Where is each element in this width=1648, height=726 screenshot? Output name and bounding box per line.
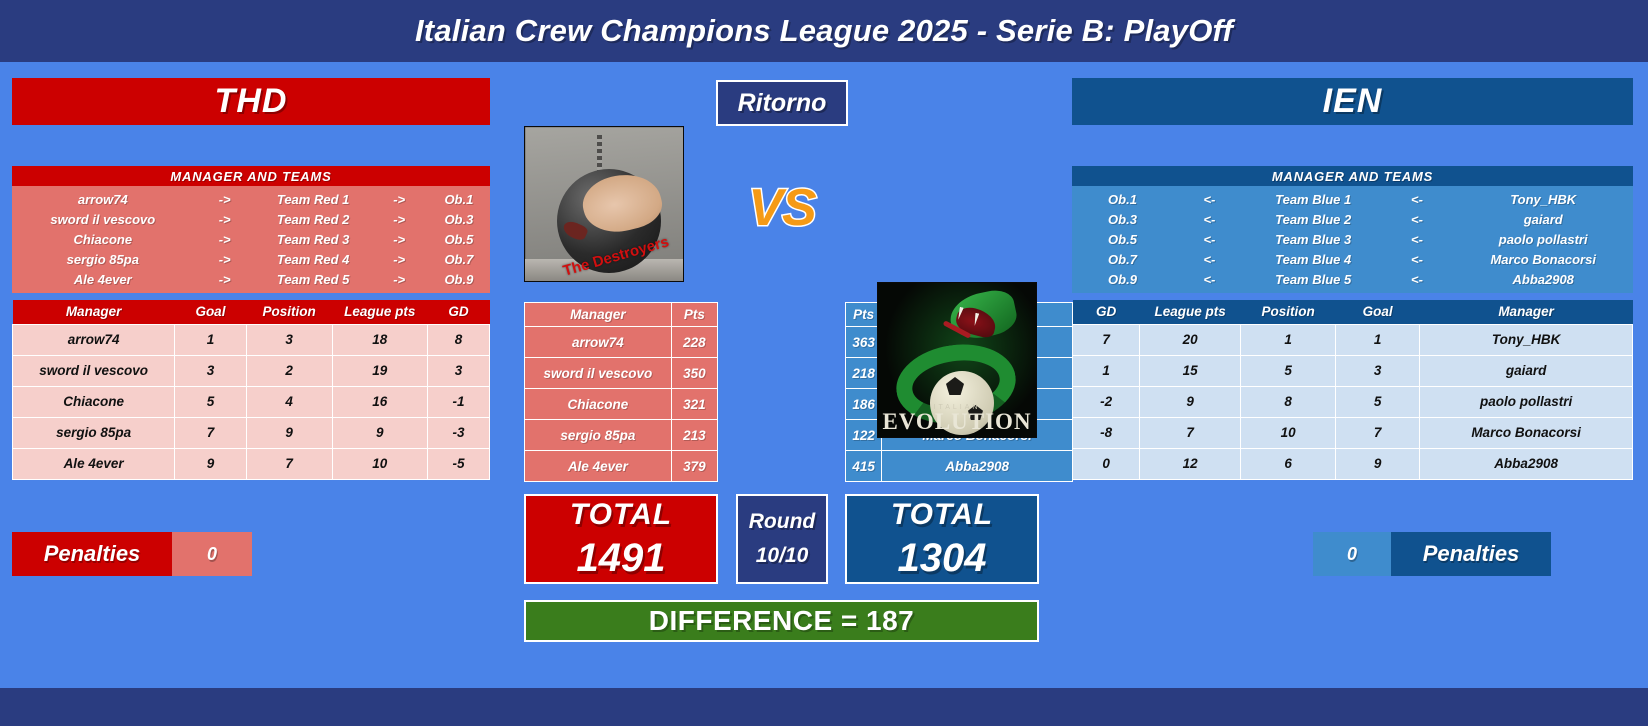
- table-cell: 228: [671, 327, 717, 358]
- table-cell: 12: [1140, 448, 1241, 479]
- table-cell: Tony_HBK: [1420, 324, 1633, 355]
- table-cell: 16: [332, 386, 427, 417]
- table-cell: 415: [846, 451, 882, 482]
- table-cell: 0: [1073, 448, 1140, 479]
- right-penalties: 0 Penalties: [1313, 532, 1551, 576]
- table-cell: Ale 4ever: [13, 448, 175, 479]
- table-row: sword il vescovo350: [525, 358, 718, 389]
- manager-teams-cell: ->: [194, 252, 256, 267]
- manager-teams-cell: Ob.1: [428, 192, 490, 207]
- table-cell: 1: [1240, 324, 1335, 355]
- manager-teams-row: Ob.5<-Team Blue 3<-paolo pollastri: [1072, 229, 1633, 249]
- table-cell: 7: [246, 448, 332, 479]
- manager-teams-cell: <-: [1173, 252, 1246, 267]
- right-manager-teams-block: MANAGER AND TEAMS Ob.1<-Team Blue 1<-Ton…: [1072, 166, 1633, 293]
- table-cell: 379: [671, 451, 717, 482]
- left-team-banner: THD: [12, 78, 490, 125]
- table-cell: 9: [332, 417, 427, 448]
- manager-teams-cell: ->: [194, 232, 256, 247]
- table-cell: 18: [332, 324, 427, 355]
- manager-teams-cell: Ob.9: [1072, 272, 1173, 287]
- manager-teams-cell: Ob.9: [428, 272, 490, 287]
- round-label: Round: [749, 510, 815, 534]
- table-cell: 8: [1240, 386, 1335, 417]
- manager-teams-cell: Ob.7: [428, 252, 490, 267]
- difference-bar: DIFFERENCE = 187: [524, 600, 1039, 642]
- column-header: Position: [1240, 300, 1335, 324]
- column-header: Position: [246, 300, 332, 324]
- table-row: Ale 4ever379: [525, 451, 718, 482]
- manager-teams-row: arrow74->Team Red 1->Ob.1: [12, 189, 490, 209]
- manager-teams-cell: sergio 85pa: [12, 252, 194, 267]
- manager-teams-cell: Team Blue 1: [1246, 192, 1381, 207]
- manager-teams-cell: Ale 4ever: [12, 272, 194, 287]
- manager-teams-cell: Team Blue 4: [1246, 252, 1381, 267]
- column-header: GD: [427, 300, 489, 324]
- manager-teams-cell: ->: [370, 252, 427, 267]
- manager-teams-row: Ob.7<-Team Blue 4<-Marco Bonacorsi: [1072, 249, 1633, 269]
- table-cell: sword il vescovo: [13, 355, 175, 386]
- left-stats-table-wrap: ManagerGoalPositionLeague ptsGDarrow7413…: [12, 300, 490, 480]
- left-stats-table: ManagerGoalPositionLeague ptsGDarrow7413…: [12, 300, 490, 480]
- table-cell: 7: [1140, 417, 1241, 448]
- right-manager-teams-header: MANAGER AND TEAMS: [1072, 166, 1633, 186]
- table-cell: 3: [246, 324, 332, 355]
- table-header-row: ManagerPts: [525, 303, 718, 327]
- left-pts-table-wrap: ManagerPtsarrow74228sword il vescovo350C…: [524, 302, 718, 482]
- manager-teams-cell: Team Red 4: [256, 252, 371, 267]
- left-manager-teams-header: MANAGER AND TEAMS: [12, 166, 490, 186]
- manager-teams-cell: Ob.5: [428, 232, 490, 247]
- table-cell: Abba2908: [882, 451, 1073, 482]
- table-row: -87107Marco Bonacorsi: [1073, 417, 1633, 448]
- right-penalties-label: Penalties: [1391, 532, 1551, 576]
- column-header: League pts: [1140, 300, 1241, 324]
- vs-label: VS: [716, 178, 848, 238]
- right-team-banner: IEN: [1072, 78, 1633, 125]
- manager-teams-cell: <-: [1381, 252, 1454, 267]
- table-header-row: GDLeague ptsPositionGoalManager: [1073, 300, 1633, 324]
- manager-teams-cell: Team Red 2: [256, 212, 371, 227]
- right-total-value: 1304: [898, 536, 987, 581]
- table-cell: 9: [175, 448, 247, 479]
- left-total-box: TOTAL 1491: [524, 494, 718, 584]
- table-cell: Marco Bonacorsi: [1420, 417, 1633, 448]
- table-cell: 7: [1073, 324, 1140, 355]
- round-box: Round 10/10: [736, 494, 828, 584]
- manager-teams-cell: <-: [1381, 232, 1454, 247]
- manager-teams-cell: <-: [1173, 232, 1246, 247]
- manager-teams-row: Ob.3<-Team Blue 2<-gaiard: [1072, 209, 1633, 229]
- table-cell: 3: [427, 355, 489, 386]
- right-total-box: TOTAL 1304: [845, 494, 1039, 584]
- manager-teams-cell: Team Blue 2: [1246, 212, 1381, 227]
- table-cell: 20: [1140, 324, 1241, 355]
- manager-teams-cell: ->: [370, 272, 427, 287]
- column-header: GD: [1073, 300, 1140, 324]
- manager-teams-cell: Ob.3: [428, 212, 490, 227]
- table-row: sergio 85pa799-3: [13, 417, 490, 448]
- table-row: Chiacone5416-1: [13, 386, 490, 417]
- column-header: Goal: [1336, 300, 1420, 324]
- column-header: Goal: [175, 300, 247, 324]
- manager-teams-row: Ale 4ever->Team Red 5->Ob.9: [12, 269, 490, 289]
- column-header: Pts: [671, 303, 717, 327]
- right-team-logo: ITALIAN EVOLUTION: [877, 282, 1037, 438]
- page-title: Italian Crew Champions League 2025 - Ser…: [0, 0, 1648, 62]
- right-manager-teams-body: Ob.1<-Team Blue 1<-Tony_HBKOb.3<-Team Bl…: [1072, 186, 1633, 293]
- manager-teams-cell: Abba2908: [1453, 272, 1633, 287]
- left-team-logo: The Destroyers: [524, 126, 684, 282]
- manager-teams-cell: <-: [1173, 212, 1246, 227]
- table-row: 01269Abba2908: [1073, 448, 1633, 479]
- column-header: League pts: [332, 300, 427, 324]
- table-row: sword il vescovo32193: [13, 355, 490, 386]
- table-cell: 7: [175, 417, 247, 448]
- manager-teams-row: Ob.9<-Team Blue 5<-Abba2908: [1072, 269, 1633, 289]
- table-cell: -2: [1073, 386, 1140, 417]
- manager-teams-cell: Ob.7: [1072, 252, 1173, 267]
- manager-teams-cell: ->: [194, 212, 256, 227]
- manager-teams-cell: ->: [194, 192, 256, 207]
- left-penalties-label: Penalties: [12, 532, 172, 576]
- table-row: 72011Tony_HBK: [1073, 324, 1633, 355]
- table-row: Ale 4ever9710-5: [13, 448, 490, 479]
- table-cell: 213: [671, 420, 717, 451]
- manager-teams-cell: <-: [1173, 192, 1246, 207]
- manager-teams-cell: Ob.1: [1072, 192, 1173, 207]
- table-cell: Chiacone: [525, 389, 672, 420]
- manager-teams-cell: Chiacone: [12, 232, 194, 247]
- table-cell: 321: [671, 389, 717, 420]
- right-stats-table: GDLeague ptsPositionGoalManager72011Tony…: [1072, 300, 1633, 480]
- manager-teams-cell: Team Red 5: [256, 272, 371, 287]
- manager-teams-cell: <-: [1173, 272, 1246, 287]
- table-header-row: ManagerGoalPositionLeague ptsGD: [13, 300, 490, 324]
- manager-teams-cell: ->: [194, 272, 256, 287]
- bottom-band: [0, 688, 1648, 726]
- manager-teams-row: sword il vescovo->Team Red 2->Ob.3: [12, 209, 490, 229]
- table-cell: 9: [1140, 386, 1241, 417]
- table-row: arrow7413188: [13, 324, 490, 355]
- left-total-label: TOTAL: [570, 498, 672, 532]
- table-cell: Ale 4ever: [525, 451, 672, 482]
- table-cell: 19: [332, 355, 427, 386]
- manager-teams-cell: Team Blue 3: [1246, 232, 1381, 247]
- manager-teams-cell: paolo pollastri: [1453, 232, 1633, 247]
- table-cell: 1: [1073, 355, 1140, 386]
- table-cell: sergio 85pa: [13, 417, 175, 448]
- manager-teams-cell: ->: [370, 212, 427, 227]
- right-total-label: TOTAL: [891, 498, 993, 532]
- manager-teams-row: Ob.1<-Team Blue 1<-Tony_HBK: [1072, 189, 1633, 209]
- table-cell: arrow74: [525, 327, 672, 358]
- column-header: Manager: [525, 303, 672, 327]
- table-cell: 5: [1336, 386, 1420, 417]
- manager-teams-row: Chiacone->Team Red 3->Ob.5: [12, 229, 490, 249]
- manager-teams-cell: Marco Bonacorsi: [1453, 252, 1633, 267]
- manager-teams-row: sergio 85pa->Team Red 4->Ob.7: [12, 249, 490, 269]
- table-cell: 9: [246, 417, 332, 448]
- manager-teams-cell: Ob.3: [1072, 212, 1173, 227]
- table-row: arrow74228: [525, 327, 718, 358]
- left-pts-table: ManagerPtsarrow74228sword il vescovo350C…: [524, 302, 718, 482]
- table-row: -2985paolo pollastri: [1073, 386, 1633, 417]
- table-row: 11553gaiard: [1073, 355, 1633, 386]
- left-manager-teams-body: arrow74->Team Red 1->Ob.1sword il vescov…: [12, 186, 490, 293]
- table-cell: -3: [427, 417, 489, 448]
- table-cell: 1: [1336, 324, 1420, 355]
- table-cell: -8: [1073, 417, 1140, 448]
- manager-teams-cell: Ob.5: [1072, 232, 1173, 247]
- table-cell: 5: [175, 386, 247, 417]
- manager-teams-cell: Team Red 3: [256, 232, 371, 247]
- leg-label: Ritorno: [738, 89, 827, 118]
- table-cell: Chiacone: [13, 386, 175, 417]
- table-cell: 3: [175, 355, 247, 386]
- leg-chip: Ritorno: [716, 80, 848, 126]
- left-penalties-value: 0: [172, 532, 252, 576]
- manager-teams-cell: sword il vescovo: [12, 212, 194, 227]
- table-cell: 7: [1336, 417, 1420, 448]
- manager-teams-cell: Tony_HBK: [1453, 192, 1633, 207]
- table-cell: 15: [1140, 355, 1241, 386]
- table-cell: 5: [1240, 355, 1335, 386]
- table-cell: Abba2908: [1420, 448, 1633, 479]
- table-row: Chiacone321: [525, 389, 718, 420]
- table-cell: sword il vescovo: [525, 358, 672, 389]
- manager-teams-cell: <-: [1381, 272, 1454, 287]
- right-logo-watermark: EVOLUTION: [878, 409, 1036, 435]
- table-cell: 8: [427, 324, 489, 355]
- table-cell: 3: [1336, 355, 1420, 386]
- manager-teams-cell: ->: [370, 232, 427, 247]
- table-cell: 10: [332, 448, 427, 479]
- table-row: 415Abba2908: [846, 451, 1073, 482]
- manager-teams-cell: Team Red 1: [256, 192, 371, 207]
- left-total-value: 1491: [577, 536, 666, 581]
- table-cell: -1: [427, 386, 489, 417]
- right-stats-table-wrap: GDLeague ptsPositionGoalManager72011Tony…: [1072, 300, 1633, 480]
- table-cell: 4: [246, 386, 332, 417]
- table-cell: 6: [1240, 448, 1335, 479]
- column-header: Manager: [13, 300, 175, 324]
- column-header: Manager: [1420, 300, 1633, 324]
- manager-teams-cell: arrow74: [12, 192, 194, 207]
- table-cell: 350: [671, 358, 717, 389]
- table-cell: 2: [246, 355, 332, 386]
- right-penalties-value: 0: [1313, 532, 1391, 576]
- manager-teams-cell: <-: [1381, 212, 1454, 227]
- table-cell: 1: [175, 324, 247, 355]
- table-row: sergio 85pa213: [525, 420, 718, 451]
- table-cell: gaiard: [1420, 355, 1633, 386]
- manager-teams-cell: <-: [1381, 192, 1454, 207]
- manager-teams-cell: gaiard: [1453, 212, 1633, 227]
- manager-teams-cell: Team Blue 5: [1246, 272, 1381, 287]
- manager-teams-cell: ->: [370, 192, 427, 207]
- table-cell: arrow74: [13, 324, 175, 355]
- left-manager-teams-block: MANAGER AND TEAMS arrow74->Team Red 1->O…: [12, 166, 490, 293]
- table-cell: 9: [1336, 448, 1420, 479]
- round-value: 10/10: [756, 544, 809, 568]
- table-cell: -5: [427, 448, 489, 479]
- table-cell: 10: [1240, 417, 1335, 448]
- table-cell: sergio 85pa: [525, 420, 672, 451]
- table-cell: paolo pollastri: [1420, 386, 1633, 417]
- left-penalties: Penalties 0: [12, 532, 252, 576]
